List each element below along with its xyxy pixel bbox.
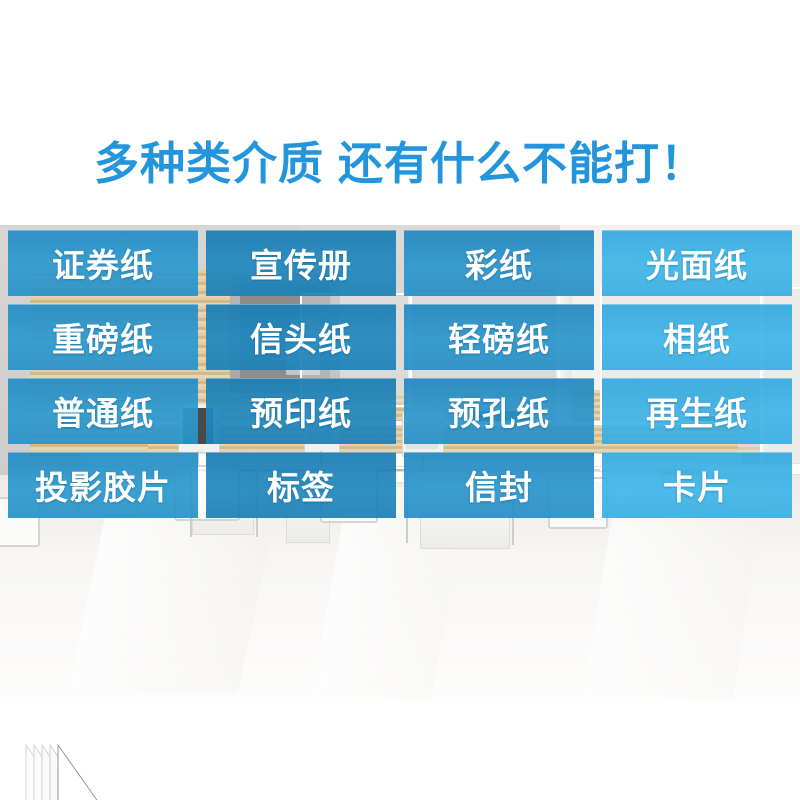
- media-tile-label: 相纸: [663, 313, 731, 361]
- media-tile-xintouzhi[interactable]: 信头纸: [206, 304, 396, 370]
- media-tile-qingbangzhi[interactable]: 轻磅纸: [404, 304, 594, 370]
- media-tile-touyingjiaopian[interactable]: 投影胶片: [8, 452, 198, 518]
- media-tile-caizhi[interactable]: 彩纸: [404, 230, 594, 296]
- page-title: 多种类介质还有什么不能打！: [0, 136, 800, 192]
- media-tile-zhongbangzhi[interactable]: 重磅纸: [8, 304, 198, 370]
- media-tile-biaoqian[interactable]: 标签: [206, 452, 396, 518]
- paper-sheets-icon: [22, 737, 152, 800]
- promo-banner: 多种类介质还有什么不能打！: [0, 0, 800, 800]
- media-tile-guangmianzhi[interactable]: 光面纸: [602, 230, 792, 296]
- media-tile-label: 再生纸: [646, 387, 748, 435]
- media-tile-label: 预孔纸: [448, 387, 550, 435]
- media-tile-label: 信封: [465, 461, 533, 509]
- paper-stack-graphic: [22, 737, 152, 800]
- media-tile-label: 宣传册: [250, 239, 352, 287]
- media-tile-label: 预印纸: [250, 387, 352, 435]
- media-tile-label: 投影胶片: [35, 461, 171, 509]
- media-tile-yuyinzhi[interactable]: 预印纸: [206, 378, 396, 444]
- media-tile-xiangzhi[interactable]: 相纸: [602, 304, 792, 370]
- media-tile-label: 信头纸: [250, 313, 352, 361]
- media-tile-xinfeng[interactable]: 信封: [404, 452, 594, 518]
- media-tile-label: 光面纸: [646, 239, 748, 287]
- media-type-grid: 证券纸 宣传册 彩纸 光面纸 重磅纸 信头纸 轻磅纸 相纸 普通纸 预印纸 预孔…: [8, 230, 792, 518]
- media-tile-label: 彩纸: [465, 239, 533, 287]
- media-tile-label: 重磅纸: [52, 313, 154, 361]
- media-tile-label: 轻磅纸: [448, 313, 550, 361]
- media-tile-xuanchuance[interactable]: 宣传册: [206, 230, 396, 296]
- media-tile-putongzhi[interactable]: 普通纸: [8, 378, 198, 444]
- media-tile-yukongzhi[interactable]: 预孔纸: [404, 378, 594, 444]
- media-tile-label: 标签: [267, 461, 335, 509]
- media-tile-zaishengzhi[interactable]: 再生纸: [602, 378, 792, 444]
- media-tile-label: 普通纸: [52, 387, 154, 435]
- media-tile-label: 证券纸: [52, 239, 154, 287]
- media-tile-kapian[interactable]: 卡片: [602, 452, 792, 518]
- headline-part-2: 还有什么不能打！: [338, 138, 706, 189]
- headline-part-1: 多种类介质: [94, 138, 324, 189]
- media-tile-label: 卡片: [663, 461, 731, 509]
- media-tile-zhengquanzhi[interactable]: 证券纸: [8, 230, 198, 296]
